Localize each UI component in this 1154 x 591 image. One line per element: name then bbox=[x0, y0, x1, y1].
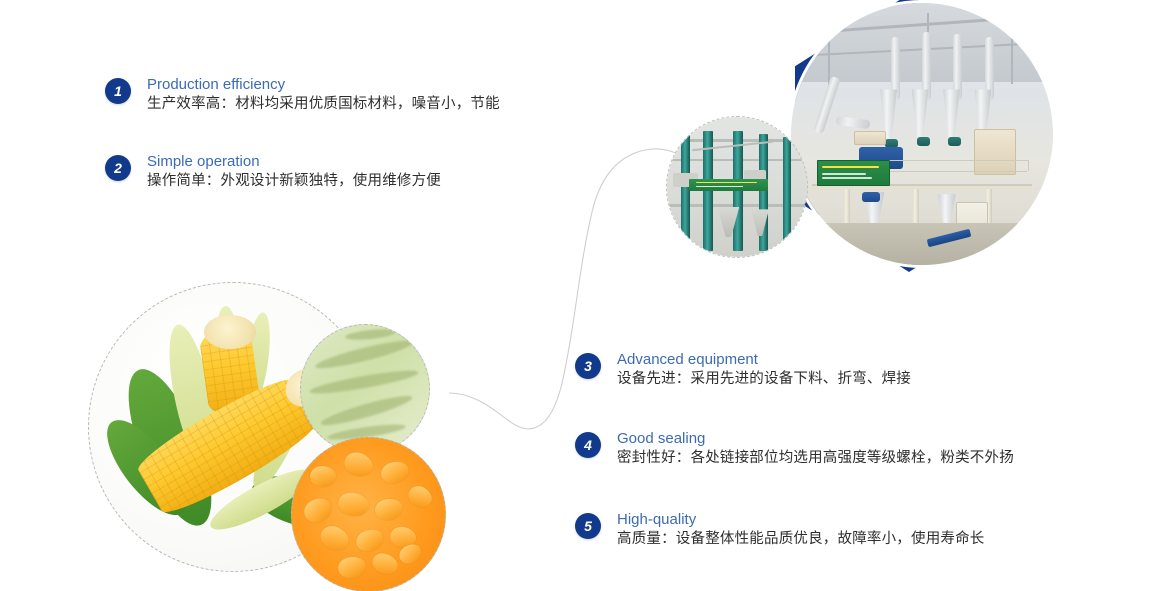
corn-kernels-photo[interactable] bbox=[291, 437, 446, 591]
small-factory-banner bbox=[689, 179, 767, 192]
feature-text-block: Good sealing 密封性好：各处链接部位均选用高强度等级螺栓，粉类不外扬 bbox=[617, 429, 1014, 469]
corn-paste-photo[interactable] bbox=[300, 324, 430, 454]
feature-item-1[interactable]: 1 Production efficiency 生产效率高：材料均采用优质国标材… bbox=[105, 78, 500, 115]
factory-main-photo[interactable] bbox=[788, 0, 1056, 268]
factory-image-cluster bbox=[660, 0, 1154, 284]
feature-item-3[interactable]: 3 Advanced equipment 设备先进：采用先进的设备下料、折弯、焊… bbox=[575, 353, 911, 390]
feature-description: 设备先进：采用先进的设备下料、折弯、焊接 bbox=[617, 369, 911, 390]
feature-title: Good sealing bbox=[617, 429, 1014, 448]
factory-small-photo[interactable] bbox=[666, 116, 808, 258]
feature-number-badge: 4 bbox=[575, 432, 601, 458]
feature-description: 操作简单：外观设计新颖独特，使用维修方便 bbox=[147, 171, 441, 192]
infographic-canvas: 1 Production efficiency 生产效率高：材料均采用优质国标材… bbox=[0, 0, 1154, 591]
feature-description: 生产效率高：材料均采用优质国标材料，噪音小，节能 bbox=[147, 94, 500, 115]
feature-title: Advanced equipment bbox=[617, 350, 911, 369]
feature-number-badge: 5 bbox=[575, 513, 601, 539]
teal-machinery-art bbox=[667, 117, 807, 257]
feature-text-block: Simple operation 操作简单：外观设计新颖独特，使用维修方便 bbox=[147, 152, 441, 192]
feature-item-2[interactable]: 2 Simple operation 操作简单：外观设计新颖独特，使用维修方便 bbox=[105, 155, 441, 192]
feature-text-block: High-quality 高质量：设备整体性能品质优良，故障率小，使用寿命长 bbox=[617, 510, 985, 550]
feature-number-badge: 1 bbox=[105, 78, 131, 104]
feature-number-badge: 3 bbox=[575, 353, 601, 379]
corn-image-cluster bbox=[88, 282, 488, 591]
feature-item-5[interactable]: 5 High-quality 高质量：设备整体性能品质优良，故障率小，使用寿命长 bbox=[575, 513, 985, 550]
factory-banner bbox=[817, 160, 890, 186]
feature-description: 密封性好：各处链接部位均选用高强度等级螺栓，粉类不外扬 bbox=[617, 448, 1014, 469]
feature-title: Simple operation bbox=[147, 152, 441, 171]
factory-scene-art bbox=[791, 3, 1053, 265]
feature-description: 高质量：设备整体性能品质优良，故障率小，使用寿命长 bbox=[617, 529, 985, 550]
feature-text-block: Production efficiency 生产效率高：材料均采用优质国标材料，… bbox=[147, 75, 500, 115]
feature-text-block: Advanced equipment 设备先进：采用先进的设备下料、折弯、焊接 bbox=[617, 350, 911, 390]
feature-title: High-quality bbox=[617, 510, 985, 529]
feature-number-badge: 2 bbox=[105, 155, 131, 181]
feature-item-4[interactable]: 4 Good sealing 密封性好：各处链接部位均选用高强度等级螺栓，粉类不… bbox=[575, 432, 1014, 469]
feature-title: Production efficiency bbox=[147, 75, 500, 94]
